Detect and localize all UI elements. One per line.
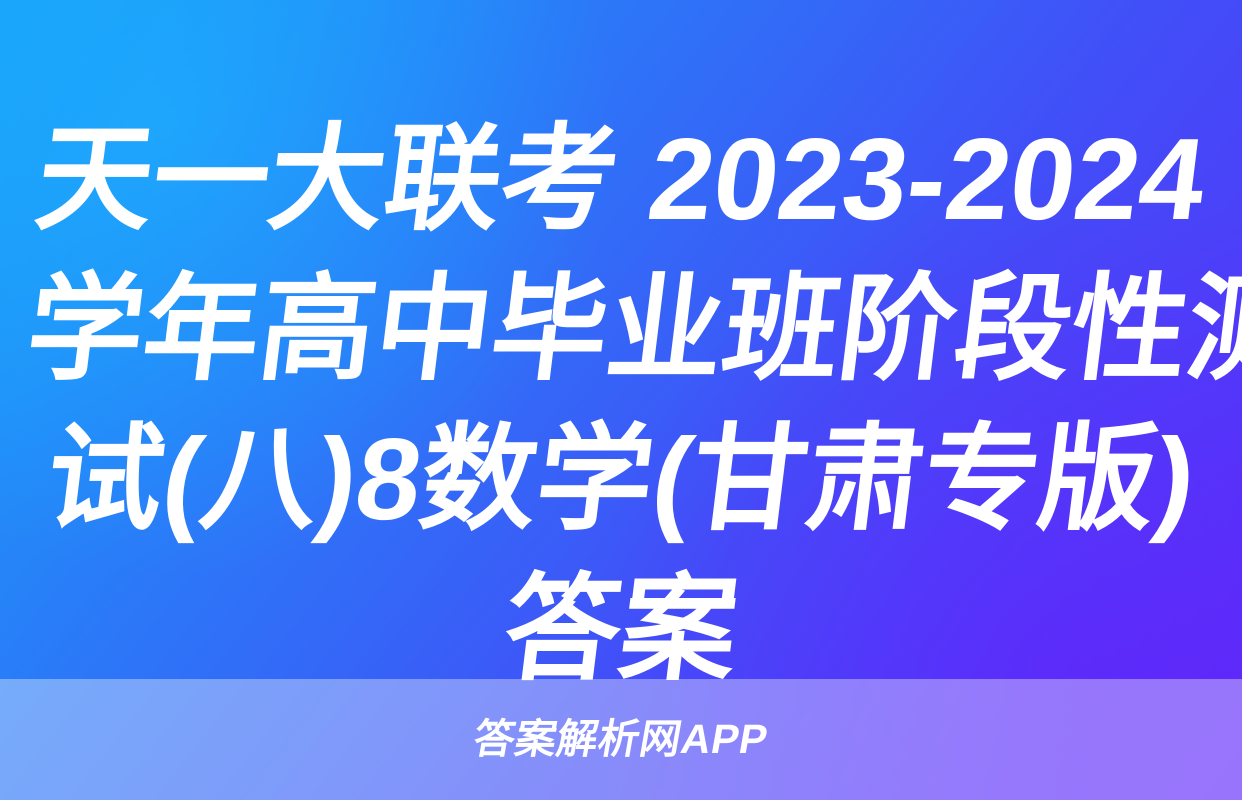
footer-brand-label: 答案解析网APP (471, 719, 772, 760)
title-line-1: 天一大联考 2023-2024 (19, 104, 1223, 254)
footer-brand-band: 答案解析网APP (0, 679, 1242, 800)
poster-canvas: 天一大联考 2023-2024 学年高中毕业班阶段性测 试(八)8数学(甘肃专版… (0, 0, 1242, 800)
poster-title: 天一大联考 2023-2024 学年高中毕业班阶段性测 试(八)8数学(甘肃专版… (0, 104, 1242, 704)
title-line-3: 试(八)8数学(甘肃专版) (19, 404, 1223, 554)
title-line-2: 学年高中毕业班阶段性测 (19, 254, 1223, 404)
